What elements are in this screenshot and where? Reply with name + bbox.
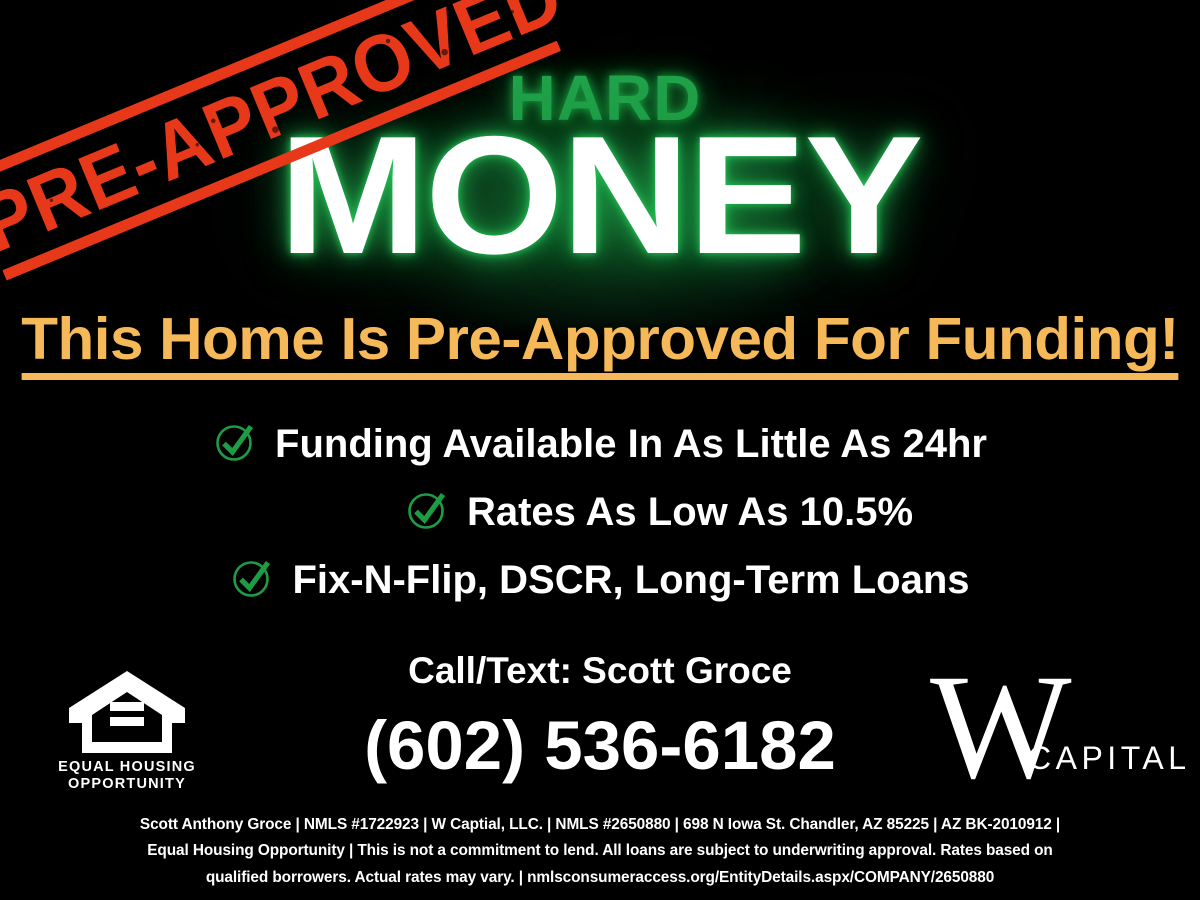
benefits-list: Funding Available In As Little As 24hr R…	[0, 410, 1200, 614]
w-capital-logo: W CAPITAL	[924, 662, 1174, 792]
equal-housing-line1: EQUAL HOUSING	[52, 759, 202, 776]
equal-housing-house-icon	[52, 668, 202, 756]
check-circle-icon	[405, 488, 449, 532]
disclaimer-text: Scott Anthony Groce | NMLS #1722923 | W …	[50, 812, 1150, 891]
page-title: This Home Is Pre-Approved For Funding!	[0, 310, 1200, 380]
list-item-label: Rates As Low As 10.5%	[467, 490, 913, 535]
check-circle-icon	[230, 556, 274, 600]
check-circle-icon	[213, 420, 257, 464]
list-item: Funding Available In As Little As 24hr	[0, 410, 1200, 478]
equal-housing-logo: EQUAL HOUSING OPPORTUNITY	[52, 668, 202, 793]
list-item-label: Fix-N-Flip, DSCR, Long-Term Loans	[292, 558, 969, 603]
equal-housing-line2: OPPORTUNITY	[52, 776, 202, 793]
page-title-text: This Home Is Pre-Approved For Funding!	[21, 310, 1179, 380]
equal-housing-logo-text: EQUAL HOUSING OPPORTUNITY	[52, 759, 202, 793]
disclaimer-line-3: qualified borrowers. Actual rates may va…	[50, 865, 1150, 891]
capital-wordmark: CAPITAL	[1028, 740, 1191, 777]
flyer-canvas: HARD MONEY PRE-APPROVED This Home Is Pre…	[0, 0, 1200, 900]
list-item-label: Funding Available In As Little As 24hr	[275, 422, 987, 467]
list-item: Fix-N-Flip, DSCR, Long-Term Loans	[0, 546, 1200, 614]
money-word: MONEY	[0, 128, 1200, 262]
w-monogram: W	[930, 652, 1072, 802]
hard-money-lockup: HARD MONEY	[0, 72, 1200, 263]
disclaimer-line-2: Equal Housing Opportunity | This is not …	[50, 838, 1150, 864]
disclaimer-line-1: Scott Anthony Groce | NMLS #1722923 | W …	[50, 812, 1150, 838]
list-item: Rates As Low As 10.5%	[0, 478, 1200, 546]
